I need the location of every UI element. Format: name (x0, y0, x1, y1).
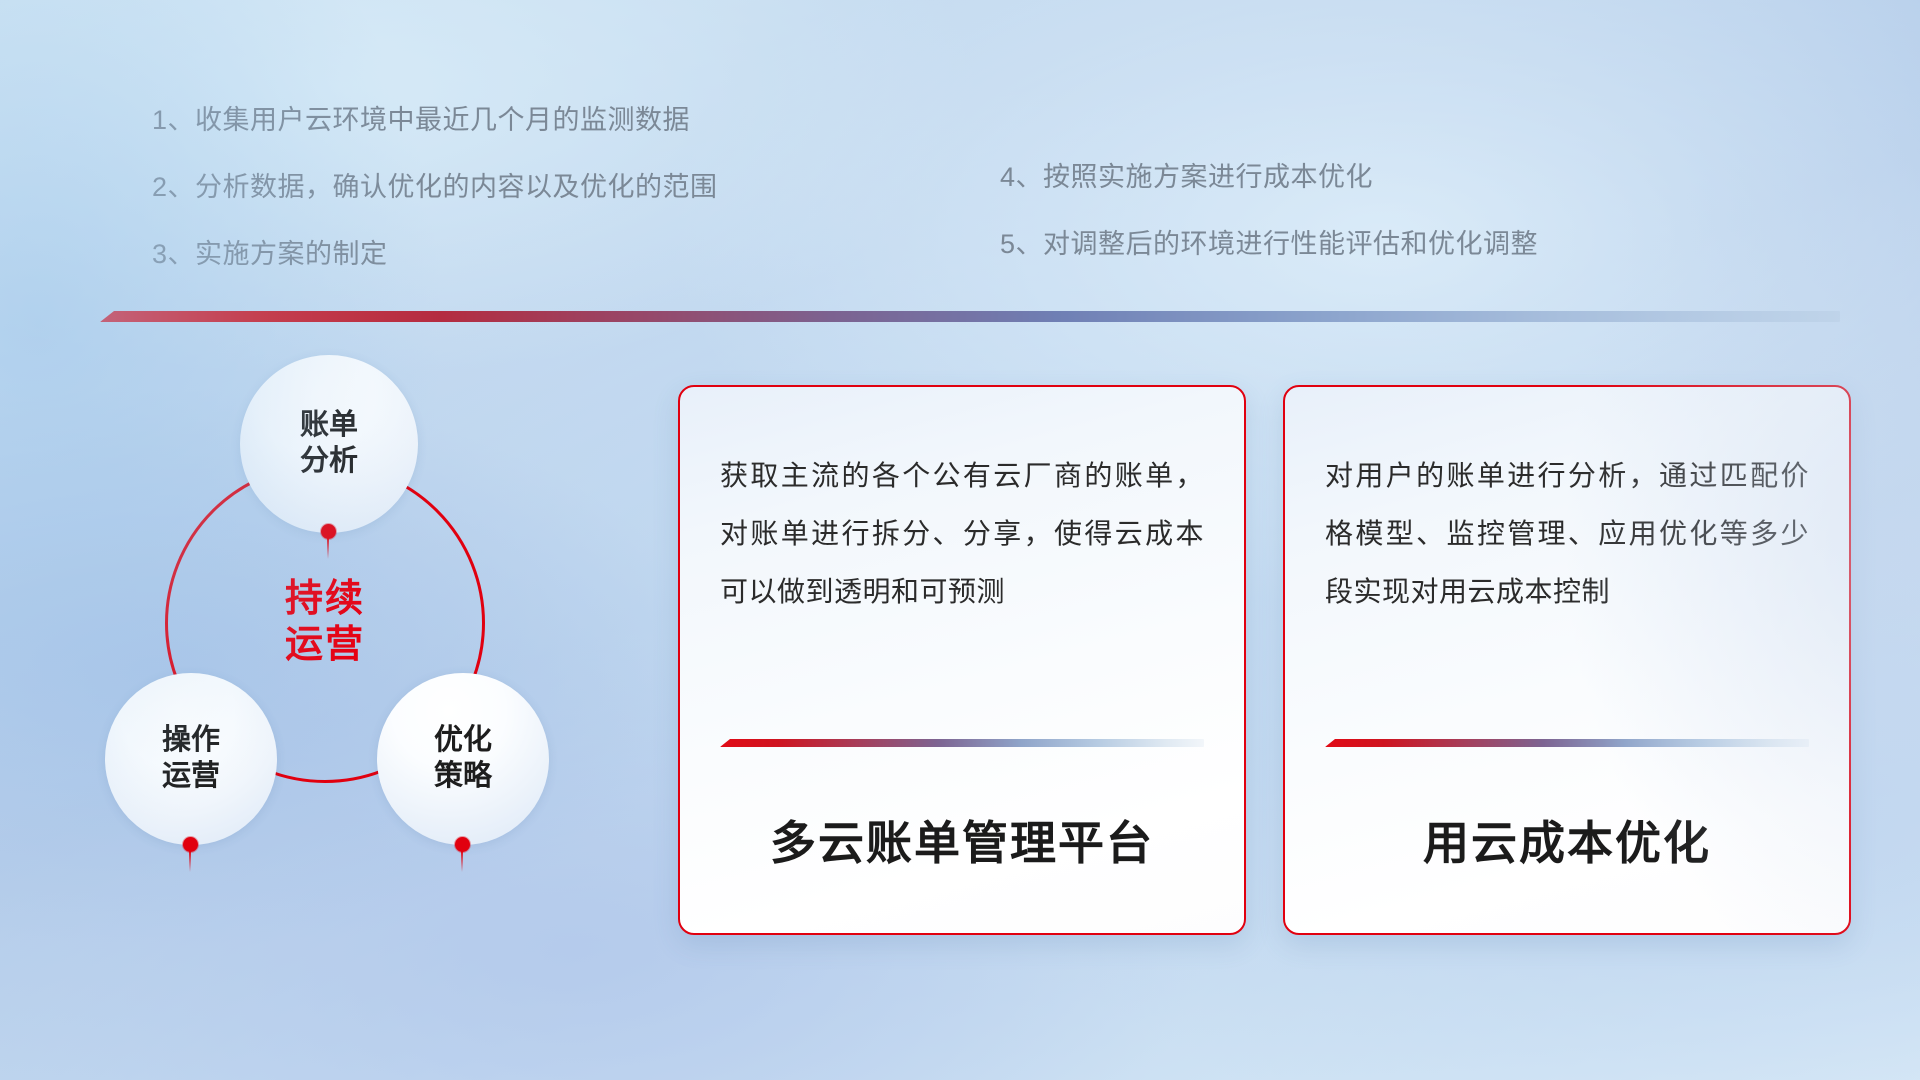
connector-stem-right (461, 850, 463, 872)
connector-stem-top (327, 537, 329, 559)
connector-stem-left (189, 850, 191, 872)
step-item-1: 1、收集用户云环境中最近几个月的监测数据 (152, 98, 718, 137)
step-item-4: 4、按照实施方案进行成本优化 (1000, 155, 1538, 194)
card-body-text: 对用户的账单进行分析，通过匹配价格模型、监控管理、应用优化等多少段实现对用云成本… (1325, 447, 1809, 622)
steps-left-column: 1、收集用户云环境中最近几个月的监测数据 2、分析数据，确认优化的内容以及优化的… (152, 98, 718, 299)
card-title: 多云账单管理平台 (680, 807, 1244, 873)
card-title: 用云成本优化 (1285, 807, 1849, 873)
card-multi-cloud-billing-platform[interactable]: 获取主流的各个公有云厂商的账单，对账单进行拆分、分享，使得云成本可以做到透明和可… (678, 385, 1246, 935)
step-item-2: 2、分析数据，确认优化的内容以及优化的范围 (152, 165, 718, 204)
card-cloud-cost-optimization[interactable]: 对用户的账单进行分析，通过匹配价格模型、监控管理、应用优化等多少段实现对用云成本… (1283, 385, 1851, 935)
diagram-center-label: 持续 运营 (165, 463, 485, 783)
card-divider (1325, 739, 1809, 747)
step-item-3: 3、实施方案的制定 (152, 232, 718, 271)
step-item-5: 5、对调整后的环境进行性能评估和优化调整 (1000, 222, 1538, 261)
card-body-text: 获取主流的各个公有云厂商的账单，对账单进行拆分、分享，使得云成本可以做到透明和可… (720, 447, 1204, 622)
continuous-operations-diagram: 账单 分析 操作 运营 优化 策略 持续 运营 (105, 355, 555, 915)
slide-background: 1、收集用户云环境中最近几个月的监测数据 2、分析数据，确认优化的内容以及优化的… (0, 0, 1920, 1080)
card-divider (720, 739, 1204, 747)
steps-right-column: 4、按照实施方案进行成本优化 5、对调整后的环境进行性能评估和优化调整 (1000, 155, 1538, 289)
section-divider (100, 311, 1840, 322)
